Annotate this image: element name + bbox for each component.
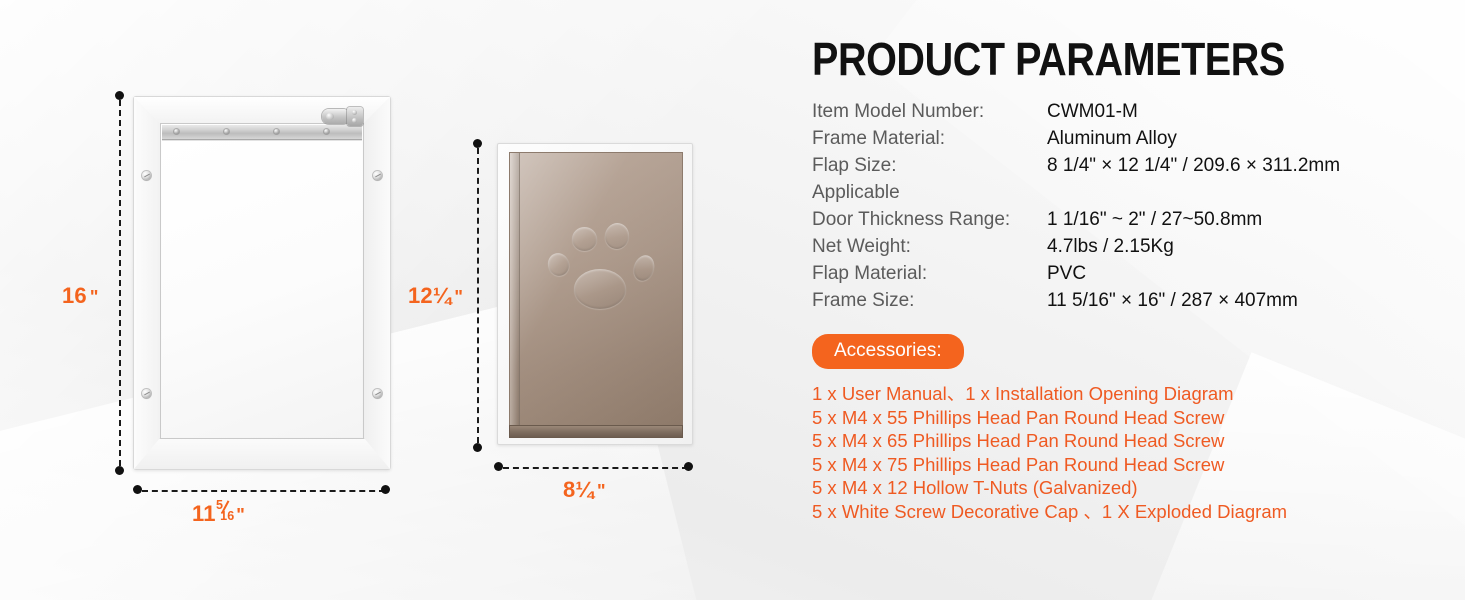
frame-metal-header-bar bbox=[162, 125, 362, 140]
spec-row: Item Model Number: CWM01-M bbox=[812, 98, 1432, 125]
spec-value: 11 5/16" × 16" / 287 × 407mm bbox=[1047, 287, 1298, 314]
spec-label: Net Weight: bbox=[812, 233, 1047, 260]
frame-bevel-bottom bbox=[134, 438, 390, 469]
spec-label: Applicable Door Thickness Range: bbox=[812, 179, 1047, 233]
specifications-table: Item Model Number: CWM01-M Frame Materia… bbox=[812, 98, 1432, 314]
product-parameters-page: 16" 11516" 12¼" 8¼" PR bbox=[0, 0, 1465, 600]
spec-row: Net Weight: 4.7lbs / 2.15Kg bbox=[812, 233, 1432, 260]
accessory-item: 1 x User Manual、1 x Installation Opening… bbox=[812, 382, 1432, 406]
frame-width-whole: 11 bbox=[192, 501, 216, 526]
frame-width-unit: " bbox=[236, 505, 245, 525]
frame-mounting-screw bbox=[373, 389, 382, 398]
frame-latch-hinge bbox=[322, 107, 366, 127]
header-bar-screw bbox=[224, 129, 229, 134]
dimension-endpoint-dot bbox=[115, 91, 124, 100]
spec-row: Frame Material: Aluminum Alloy bbox=[812, 125, 1432, 152]
flap-height-label: 12¼" bbox=[408, 283, 463, 309]
flap-height-unit: " bbox=[454, 287, 463, 307]
paw-print-toe bbox=[603, 221, 631, 251]
page-title: PRODUCT PARAMETERS bbox=[812, 36, 1345, 82]
dimension-endpoint-dot bbox=[133, 485, 142, 494]
flap-width-dimension-line bbox=[503, 467, 688, 469]
frame-inner-pane bbox=[162, 140, 362, 437]
frame-mounting-screw bbox=[142, 171, 151, 180]
accessory-item: 5 x M4 x 55 Phillips Head Pan Round Head… bbox=[812, 406, 1432, 430]
paw-print-toe bbox=[630, 253, 657, 284]
paw-print-toe bbox=[545, 250, 572, 278]
spec-value: 4.7lbs / 2.15Kg bbox=[1047, 233, 1174, 260]
flap-width-unit: " bbox=[597, 481, 606, 501]
accessory-item: 5 x White Screw Decorative Cap 、1 X Expl… bbox=[812, 500, 1432, 524]
frame-outer-flange bbox=[133, 96, 391, 470]
spec-value: PVC bbox=[1047, 260, 1086, 287]
frame-mounting-screw bbox=[373, 171, 382, 180]
accessory-item: 5 x M4 x 65 Phillips Head Pan Round Head… bbox=[812, 429, 1432, 453]
dimension-endpoint-dot bbox=[473, 139, 482, 148]
spec-row: Applicable Door Thickness Range: 1 1/16"… bbox=[812, 179, 1432, 233]
flap-translucent-panel bbox=[509, 152, 683, 428]
spec-row: Flap Size: 8 1/4" × 12 1/4" / 209.6 × 31… bbox=[812, 152, 1432, 179]
pvc-flap-illustration bbox=[497, 143, 693, 445]
paw-print-main-pad bbox=[574, 269, 626, 309]
frame-height-value: 16 bbox=[62, 283, 87, 308]
flap-width-label: 8¼" bbox=[563, 477, 606, 503]
dimension-endpoint-dot bbox=[473, 443, 482, 452]
hinge-tab bbox=[347, 107, 363, 126]
fraction-denominator: 16 bbox=[220, 510, 234, 523]
dimension-endpoint-dot bbox=[115, 466, 124, 475]
spec-label: Item Model Number: bbox=[812, 98, 1047, 125]
flap-height-value: 12¼ bbox=[408, 283, 451, 308]
header-bar-screw bbox=[274, 129, 279, 134]
frame-height-unit: " bbox=[90, 287, 99, 307]
paw-print-toe bbox=[572, 227, 597, 251]
header-bar-screw bbox=[174, 129, 179, 134]
spec-label: Flap Material: bbox=[812, 260, 1047, 287]
frame-bevel-right bbox=[364, 97, 390, 469]
hinge-plate bbox=[322, 109, 350, 124]
frame-bevel-left bbox=[134, 97, 160, 469]
frame-mounting-screw bbox=[142, 389, 151, 398]
accessory-item: 5 x M4 x 12 Hollow T-Nuts (Galvanized) bbox=[812, 476, 1432, 500]
dimension-endpoint-dot bbox=[494, 462, 503, 471]
spec-value: Aluminum Alloy bbox=[1047, 125, 1177, 152]
flap-hinge-strip bbox=[510, 153, 520, 427]
frame-height-label: 16" bbox=[62, 283, 99, 309]
product-parameters-panel: PRODUCT PARAMETERS Item Model Number: CW… bbox=[812, 36, 1432, 523]
spec-label: Frame Size: bbox=[812, 287, 1047, 314]
spec-value: 8 1/4" × 12 1/4" / 209.6 × 311.2mm bbox=[1047, 152, 1340, 179]
frame-height-dimension-line bbox=[119, 100, 121, 466]
frame-width-label: 11516" bbox=[192, 500, 245, 527]
flap-height-dimension-line bbox=[477, 148, 479, 443]
frame-width-dimension-line bbox=[142, 490, 385, 492]
frame-width-fraction: 516 bbox=[216, 500, 233, 521]
flap-bottom-rail bbox=[509, 425, 683, 438]
accessories-list: 1 x User Manual、1 x Installation Opening… bbox=[812, 382, 1432, 523]
aluminum-frame-illustration bbox=[133, 96, 391, 470]
dimension-endpoint-dot bbox=[381, 485, 390, 494]
spec-row: Flap Material: PVC bbox=[812, 260, 1432, 287]
spec-value: 1 1/16" ~ 2" / 27~50.8mm bbox=[1047, 206, 1262, 233]
frame-opening bbox=[160, 123, 364, 439]
flap-width-value: 8¼ bbox=[563, 477, 594, 502]
spec-value: CWM01-M bbox=[1047, 98, 1138, 125]
spec-label: Frame Material: bbox=[812, 125, 1047, 152]
header-bar-screw bbox=[324, 129, 329, 134]
flap-outer-shell bbox=[497, 143, 693, 445]
dimension-endpoint-dot bbox=[684, 462, 693, 471]
spec-row: Frame Size: 11 5/16" × 16" / 287 × 407mm bbox=[812, 287, 1432, 314]
accessories-badge: Accessories: bbox=[812, 334, 964, 369]
spec-label: Flap Size: bbox=[812, 152, 1047, 179]
accessory-item: 5 x M4 x 75 Phillips Head Pan Round Head… bbox=[812, 453, 1432, 477]
